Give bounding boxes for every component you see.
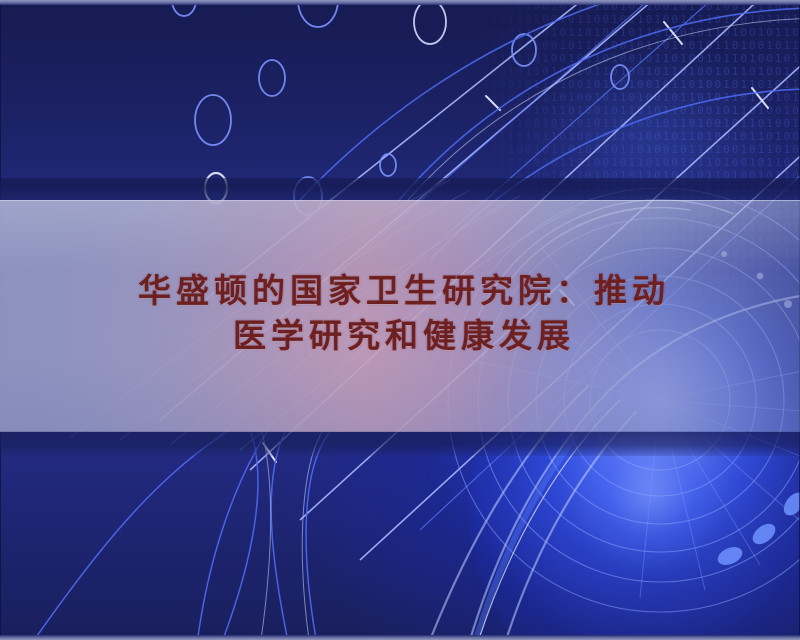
band-divider-top [0,178,800,200]
title-line-2: 医学研究和健康发展 [0,313,800,358]
bottom-edge-strip [0,635,800,640]
band-divider-bottom [0,432,800,456]
banner-title: 华盛顿的国家卫生研究院：推动 医学研究和健康发展 [0,268,800,358]
title-line-1: 华盛顿的国家卫生研究院：推动 [0,268,800,313]
banner-graphic: 0100110011010010110100101100101101001011… [0,0,800,640]
top-edge-strip [0,0,800,5]
